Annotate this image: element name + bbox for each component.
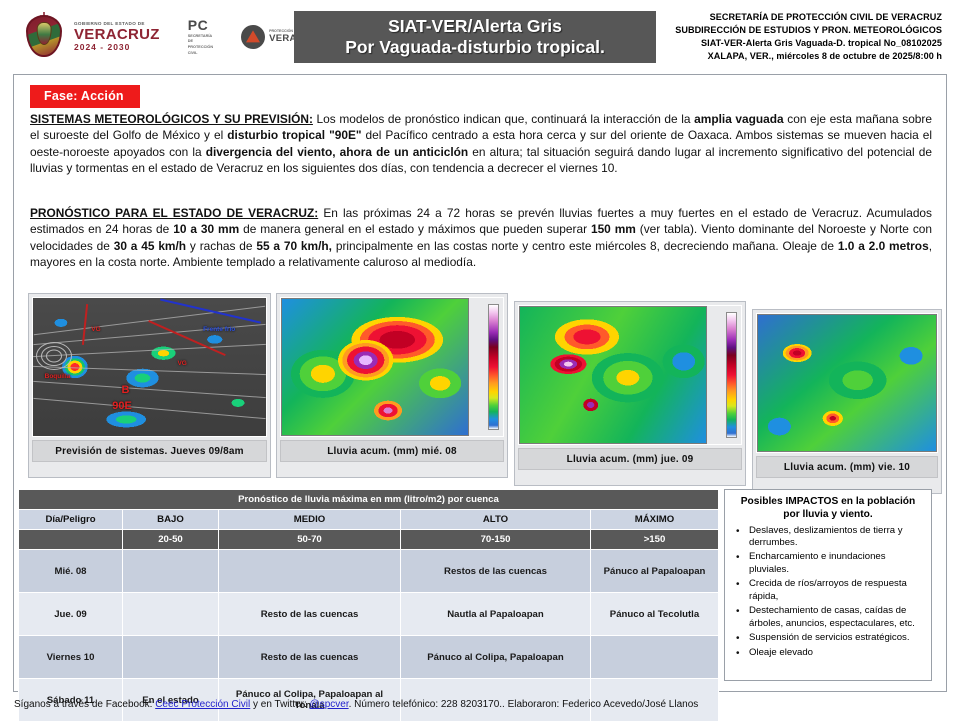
row-day: Mié. 08 xyxy=(19,550,123,593)
logo-gov-main: VERACRUZ xyxy=(74,27,160,42)
p2-bold-1: 10 a 30 mm xyxy=(173,222,239,236)
row-alto: Nautla al Papaloapan xyxy=(401,593,591,636)
twitter-link[interactable]: @spcver xyxy=(310,699,349,710)
veracruz-crest-icon xyxy=(22,12,66,62)
p2-text-b: de manera general en el estado y máximos… xyxy=(239,222,591,236)
row-bajo xyxy=(123,550,219,593)
cold-front-label: Frente frío xyxy=(203,326,235,333)
row-maximo: Pánuco al Tecolutla xyxy=(591,593,719,636)
title-line-2: Por Vaguada-disturbio tropical. xyxy=(345,37,605,58)
row-alto: Restos de las cuencas xyxy=(401,550,591,593)
bulletin-title: SIAT-VER/Alerta Gris Por Vaguada-disturb… xyxy=(294,11,656,63)
range-maximo: >150 xyxy=(591,530,719,550)
list-item: Encharcamiento e inundaciones pluviales. xyxy=(747,551,925,576)
row-medio: Resto de las cuencas xyxy=(219,636,401,679)
row-maximo: Pánuco al Papaloapan xyxy=(591,550,719,593)
authority-line-2: SUBDIRECCIÓN DE ESTUDIOS Y PRON. METEORO… xyxy=(664,24,942,37)
map-card-rain-fri[interactable]: Lluvia acum. (mm) vie. 10 xyxy=(752,309,942,494)
p1-bold-1: amplia vaguada xyxy=(694,112,784,126)
page-footer: Síganos a través de Facebook: Ceec Prote… xyxy=(14,699,948,710)
pc-logo: PC SECRETARÍA DE PROTECCIÓN CIVIL xyxy=(188,18,213,57)
p2-text-d: y rachas de xyxy=(186,239,256,253)
col-header-maximo: MÁXIMO xyxy=(591,510,719,530)
issue-datetime: XALAPA, VER., miércoles 8 de octubre de … xyxy=(664,50,942,63)
colorbar-thu xyxy=(726,312,737,438)
map-card-synoptic[interactable]: VG VG Frente frío Boquilla B 90E Previsi… xyxy=(28,293,271,478)
map-card-rain-wed[interactable]: Lluvia acum. (mm) mié. 08 xyxy=(276,293,508,478)
phase-badge: Fase: Acción xyxy=(30,85,140,108)
synoptic-chart-image: VG VG Frente frío Boquilla B 90E xyxy=(32,297,267,437)
government-logo-text: GOBIERNO DEL ESTADO DE VERACRUZ 2024 - 2… xyxy=(74,22,160,51)
col-header-alto: ALTO xyxy=(401,510,591,530)
col-header-medio: MEDIO xyxy=(219,510,401,530)
impacts-title: Posibles IMPACTOS en la población por ll… xyxy=(731,496,925,522)
p2-bold-3: 30 a 45 km/h xyxy=(114,239,186,253)
storm-code-label: 90E xyxy=(112,400,132,412)
row-alto: Pánuco al Colipa, Papaloapan xyxy=(401,636,591,679)
bulletin-body: Fase: Acción SISTEMAS METEOROLÓGICOS Y S… xyxy=(13,74,947,692)
range-blank xyxy=(19,530,123,550)
rain-map-wed-image xyxy=(280,297,504,437)
p2-text-e: principalmente en las costas norte y cen… xyxy=(332,239,838,253)
map-strip: VG VG Frente frío Boquilla B 90E Previsi… xyxy=(18,293,944,483)
rain-map-thu-image xyxy=(518,305,742,445)
paragraph-forecast-lead: PRONÓSTICO PARA EL ESTADO DE VERACRUZ: xyxy=(30,206,318,220)
map-caption-rain-fri: Lluvia acum. (mm) vie. 10 xyxy=(756,456,938,478)
col-header-day: Día/Peligro xyxy=(19,510,123,530)
range-bajo: 20-50 xyxy=(123,530,219,550)
low-pressure-swirl-icon xyxy=(37,343,71,369)
list-item: Destechamiento de casas, caídas de árbol… xyxy=(747,605,925,630)
row-medio xyxy=(219,550,401,593)
table-title: Pronóstico de lluvia máxima en mm (litro… xyxy=(19,490,719,510)
trough-label-2: VG xyxy=(177,360,186,367)
footer-text-2: y en Twitter: xyxy=(250,699,309,710)
table-row: Jue. 09 Resto de las cuencas Nautla al P… xyxy=(19,593,719,636)
logo-pc-main: PC xyxy=(188,18,213,32)
logo-pc-sub: SECRETARÍA DE PROTECCIÓN CIVIL xyxy=(188,34,213,57)
logo-gov-years: 2024 - 2030 xyxy=(74,43,160,52)
impacts-panel: Posibles IMPACTOS en la población por ll… xyxy=(724,489,932,681)
table-header-row: Día/Peligro BAJO MEDIO ALTO MÁXIMO xyxy=(19,510,719,530)
rain-map-fri-image xyxy=(756,313,938,453)
forecast-table-wrap: Pronóstico de lluvia máxima en mm (litro… xyxy=(18,489,718,722)
page-header: GOBIERNO DEL ESTADO DE VERACRUZ 2024 - 2… xyxy=(0,0,960,70)
map-caption-rain-wed: Lluvia acum. (mm) mié. 08 xyxy=(280,440,504,462)
col-header-bajo: BAJO xyxy=(123,510,219,530)
impacts-title-line-1: Posibles IMPACTOS en la población xyxy=(741,496,916,507)
p2-bold-5: 1.0 a 2.0 metros xyxy=(838,239,929,253)
p2-bold-4: 55 a 70 km/h, xyxy=(256,239,332,253)
p2-bold-2: 150 mm xyxy=(591,222,636,236)
footer-text-3: . Número telefónico: 228 8203170.. Elabo… xyxy=(349,699,699,710)
map-caption-synoptic: Previsión de sistemas. Jueves 09/8am xyxy=(32,440,267,462)
institutional-logos: GOBIERNO DEL ESTADO DE VERACRUZ 2024 - 2… xyxy=(8,12,288,62)
map-caption-rain-thu: Lluvia acum. (mm) jue. 09 xyxy=(518,448,742,470)
p1-text-a: Los modelos de pronóstico indican que, c… xyxy=(313,112,694,126)
row-day: Jue. 09 xyxy=(19,593,123,636)
footer-text-1: Síganos a través de Facebook: xyxy=(14,699,155,710)
table-row: Mié. 08 Restos de las cuencas Pánuco al … xyxy=(19,550,719,593)
paragraph-systems: SISTEMAS METEOROLÓGICOS Y SU PREVISIÓN: … xyxy=(30,111,932,177)
list-item: Oleaje elevado xyxy=(747,647,925,659)
list-item: Deslaves, deslizamientos de tierra y der… xyxy=(747,525,925,550)
range-medio: 50-70 xyxy=(219,530,401,550)
facebook-link[interactable]: Ceec Protección Civil xyxy=(155,699,250,710)
authority-line-1: SECRETARÍA DE PROTECCIÓN CIVIL DE VERACR… xyxy=(664,11,942,24)
table-row: Viernes 10 Resto de las cuencas Pánuco a… xyxy=(19,636,719,679)
list-item: Suspensión de servicios estratégicos. xyxy=(747,632,925,644)
impacts-list: Deslaves, deslizamientos de tierra y der… xyxy=(731,525,925,660)
row-maximo xyxy=(591,636,719,679)
trough-label-1: VG xyxy=(91,326,100,333)
p1-bold-2: disturbio tropical "90E" xyxy=(227,128,361,142)
low-name-label: Boquilla xyxy=(45,373,71,380)
paragraph-forecast: PRONÓSTICO PARA EL ESTADO DE VERACRUZ: E… xyxy=(30,205,932,271)
table-title-row: Pronóstico de lluvia máxima en mm (litro… xyxy=(19,490,719,510)
map-card-rain-thu[interactable]: Lluvia acum. (mm) jue. 09 xyxy=(514,301,746,486)
table-range-row: 20-50 50-70 70-150 >150 xyxy=(19,530,719,550)
row-day: Viernes 10 xyxy=(19,636,123,679)
cold-front-line xyxy=(160,299,260,324)
forecast-table: Pronóstico de lluvia máxima en mm (litro… xyxy=(18,489,719,722)
row-bajo xyxy=(123,593,219,636)
issuing-authority-block: SECRETARÍA DE PROTECCIÓN CIVIL DE VERACR… xyxy=(664,11,952,63)
p1-bold-3: divergencia del viento, ahora de un anti… xyxy=(206,145,468,159)
list-item: Crecida de ríos/arroyos de respuesta ráp… xyxy=(747,578,925,603)
bulletin-page: GOBIERNO DEL ESTADO DE VERACRUZ 2024 - 2… xyxy=(0,0,960,720)
row-medio: Resto de las cuencas xyxy=(219,593,401,636)
impacts-title-line-2: por lluvia y viento. xyxy=(783,509,872,520)
bulletin-number: SIAT-VER-Alerta Gris Vaguada-D. tropical… xyxy=(664,37,942,50)
title-line-1: SIAT-VER/Alerta Gris xyxy=(388,16,562,37)
paragraph-systems-lead: SISTEMAS METEOROLÓGICOS Y SU PREVISIÓN: xyxy=(30,112,313,126)
civil-protection-triangle-icon xyxy=(241,25,265,49)
row-bajo xyxy=(123,636,219,679)
range-alto: 70-150 xyxy=(401,530,591,550)
colorbar-wed xyxy=(488,304,499,430)
low-center-marker: B xyxy=(122,384,130,396)
